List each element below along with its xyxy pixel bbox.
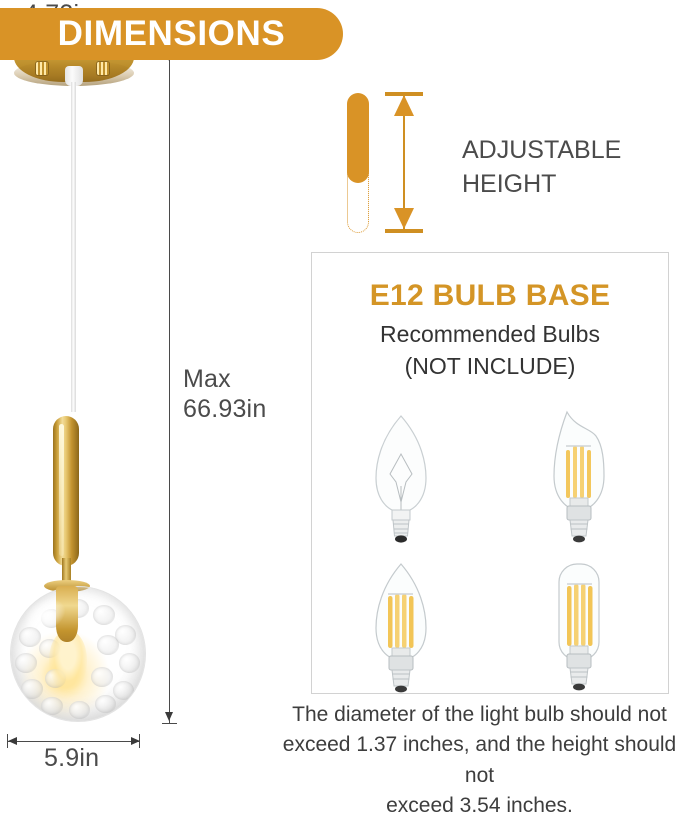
brass-rod-highlight	[59, 424, 64, 556]
hanging-cord	[71, 82, 76, 412]
arrow-left-icon	[8, 737, 17, 745]
bulb-torpedo-filament	[326, 552, 476, 702]
canopy-screw	[36, 62, 48, 75]
dimensions-banner-title: DIMENSIONS	[48, 14, 286, 54]
bulb-size-caption: The diameter of the light bulb should no…	[280, 700, 679, 822]
bulb-tubular-filament	[504, 552, 654, 702]
arrow-right-icon	[131, 737, 140, 745]
arrow-up-icon	[394, 95, 414, 116]
measure-cap-bottom	[385, 229, 423, 233]
e12-bulb-base-panel: E12 BULB BASE Recommended Bulbs (NOT INC…	[311, 252, 669, 694]
brass-rod	[53, 416, 79, 566]
height-dimension-line	[169, 48, 170, 724]
bulb-flame-tip-filament	[504, 402, 654, 552]
adjustable-height-label: ADJUSTABLE HEIGHT	[462, 134, 672, 201]
e12-subtitle: Recommended Bulbs	[312, 321, 668, 348]
height-label: Max 66.93in	[183, 365, 266, 424]
adjustable-rod-icon	[347, 93, 369, 183]
arrow-down-icon	[394, 208, 414, 229]
width-bottom-dimension-line	[7, 741, 140, 742]
bulb-incandescent-candle	[326, 402, 476, 552]
dimensions-banner: DIMENSIONS	[0, 8, 343, 60]
e12-title: E12 BULB BASE	[312, 279, 668, 313]
dim-tick	[162, 723, 177, 724]
e12-note: (NOT INCLUDE)	[312, 353, 668, 380]
recommended-bulbs-grid	[312, 402, 668, 702]
width-bottom-label: 5.9in	[44, 744, 99, 774]
canopy-screw	[97, 62, 109, 75]
arrow-down-icon	[165, 712, 173, 721]
